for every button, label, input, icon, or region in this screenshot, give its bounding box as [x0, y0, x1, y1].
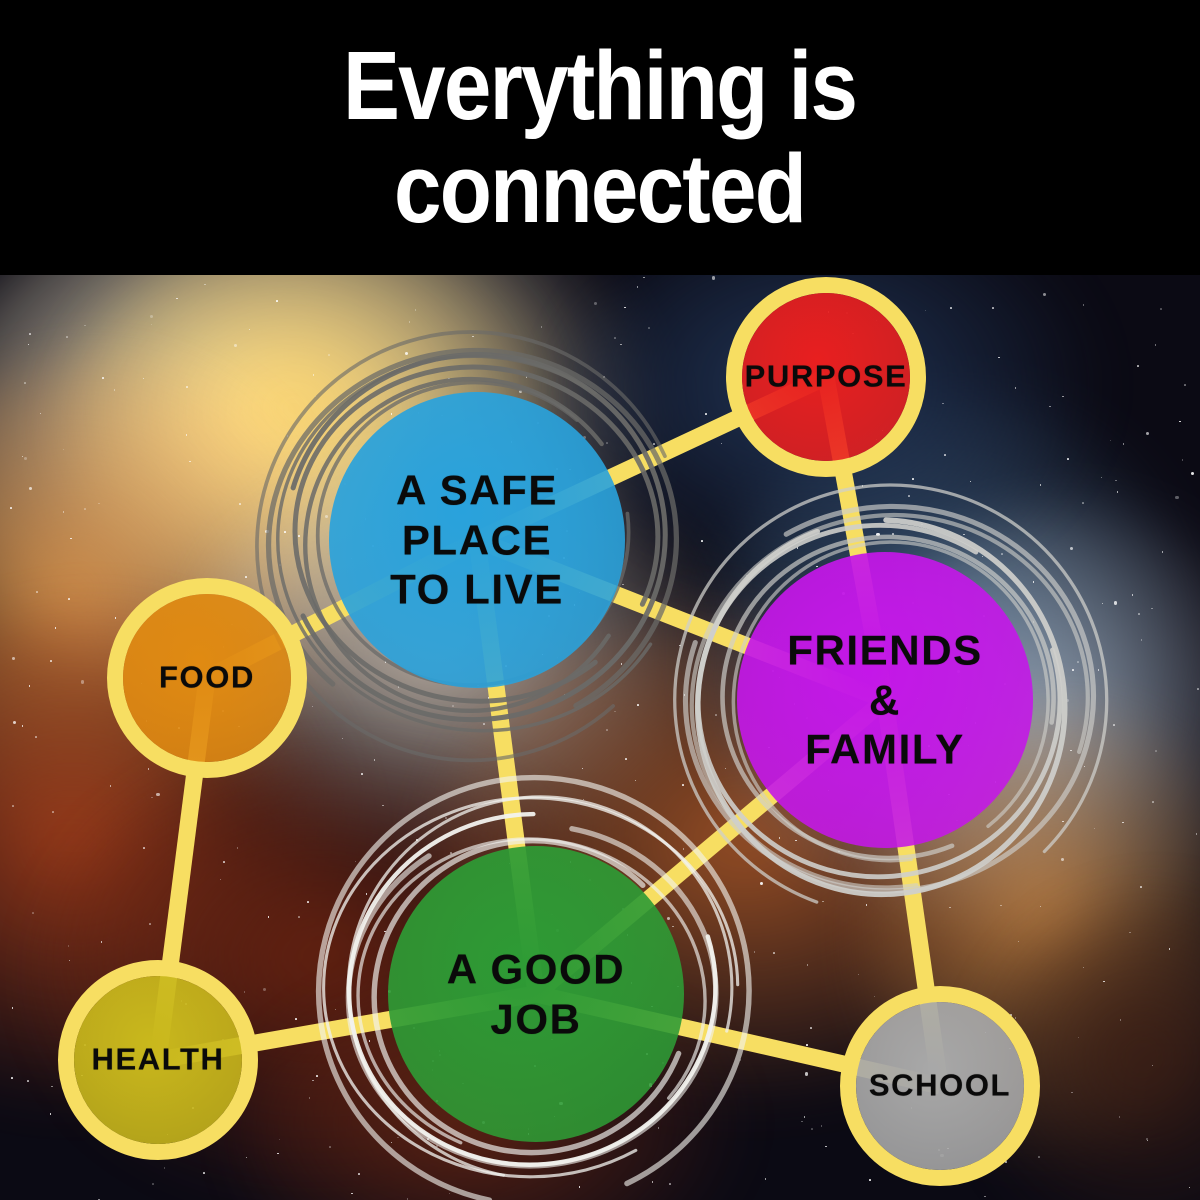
node-friends[interactable] [737, 552, 1033, 848]
poster-canvas: Everything is connected PURPOSEA SAFE PL… [0, 0, 1200, 1200]
page-title-line-1: Everything is [343, 35, 856, 138]
title-banner: Everything is connected [0, 0, 1200, 275]
node-food[interactable] [123, 594, 291, 762]
nodes-layer [66, 285, 1033, 1178]
node-purpose[interactable] [742, 293, 910, 461]
node-safe[interactable] [329, 392, 625, 688]
node-job[interactable] [388, 846, 684, 1142]
node-school[interactable] [856, 1002, 1024, 1170]
page-title-line-2: connected [394, 138, 805, 241]
node-health[interactable] [74, 976, 242, 1144]
